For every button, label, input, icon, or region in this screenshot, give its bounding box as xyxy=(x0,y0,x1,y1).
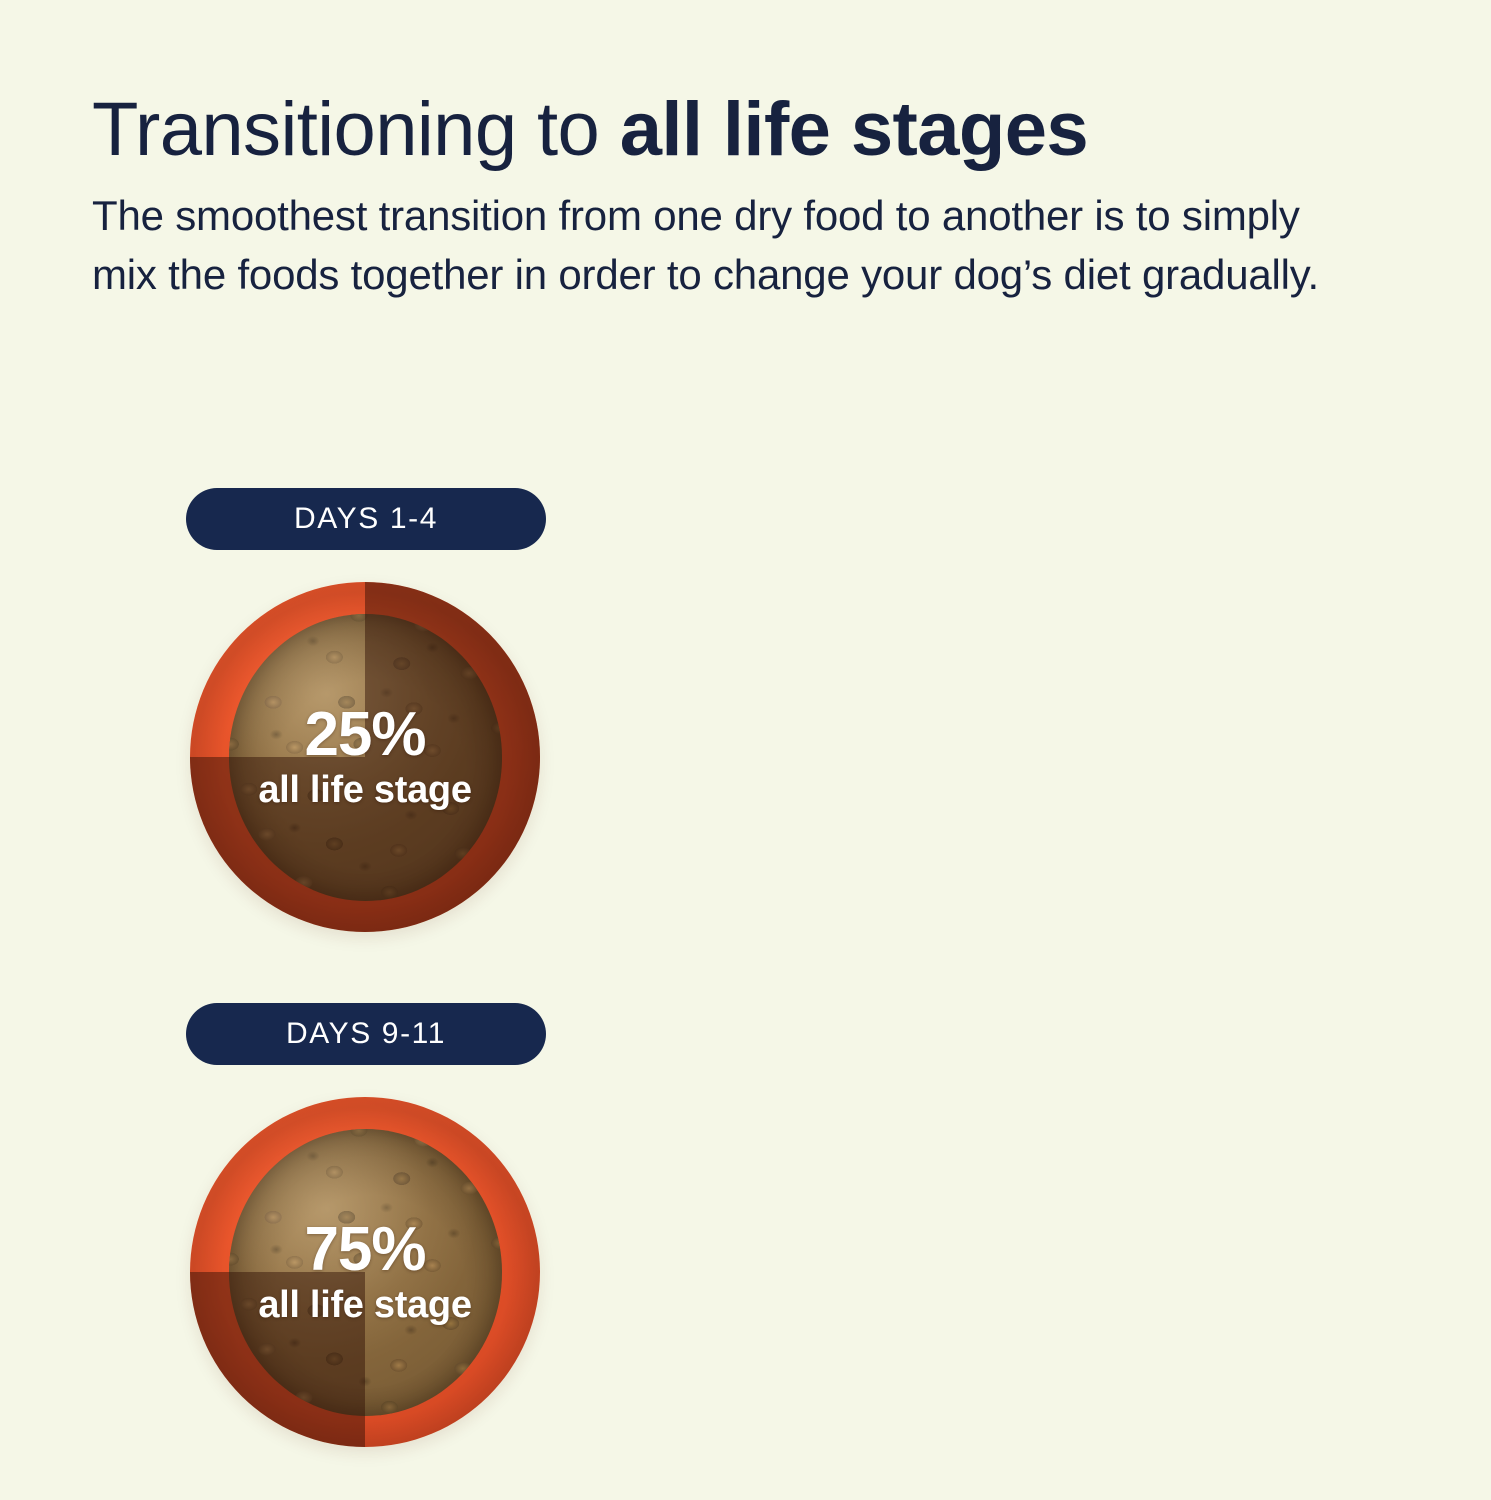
bowl-days-9-11: 75% all life stage xyxy=(190,1097,540,1447)
steps-row-1: DAYS 1-4 xyxy=(0,470,1491,985)
kibble-shading xyxy=(229,614,502,901)
bowl-dish-icon xyxy=(190,582,540,932)
transition-steps-grid: DAYS 1-4 xyxy=(0,470,1491,1500)
kibble-shading xyxy=(229,1129,502,1416)
bowl-dish-icon xyxy=(190,1097,540,1447)
bowl-days-1-4: 25% all life stage xyxy=(190,582,540,932)
header: Transitioning to all life stages The smo… xyxy=(92,88,1422,304)
day-pill-days-1-4[interactable]: DAYS 1-4 xyxy=(186,488,546,550)
steps-row-2: DAYS 9-11 xyxy=(0,985,1491,1500)
step-card-days-5-8: DAYS 5-8 xyxy=(745,470,1490,985)
kibble-mound xyxy=(229,614,502,901)
page-subtitle: The smoothest transition from one dry fo… xyxy=(92,186,1372,304)
page-title: Transitioning to all life stages xyxy=(92,88,1422,172)
page-title-bold: all life stages xyxy=(620,87,1088,172)
step-card-days-12-plus: DAYS 12+ xyxy=(745,985,1490,1500)
kibble-mound xyxy=(229,1129,502,1416)
infographic-page: Transitioning to all life stages The smo… xyxy=(0,0,1491,1500)
day-pill-days-9-11[interactable]: DAYS 9-11 xyxy=(186,1003,546,1065)
step-card-days-9-11: DAYS 9-11 xyxy=(0,985,745,1500)
step-card-days-1-4: DAYS 1-4 xyxy=(0,470,745,985)
page-title-regular: Transitioning to xyxy=(92,87,620,172)
